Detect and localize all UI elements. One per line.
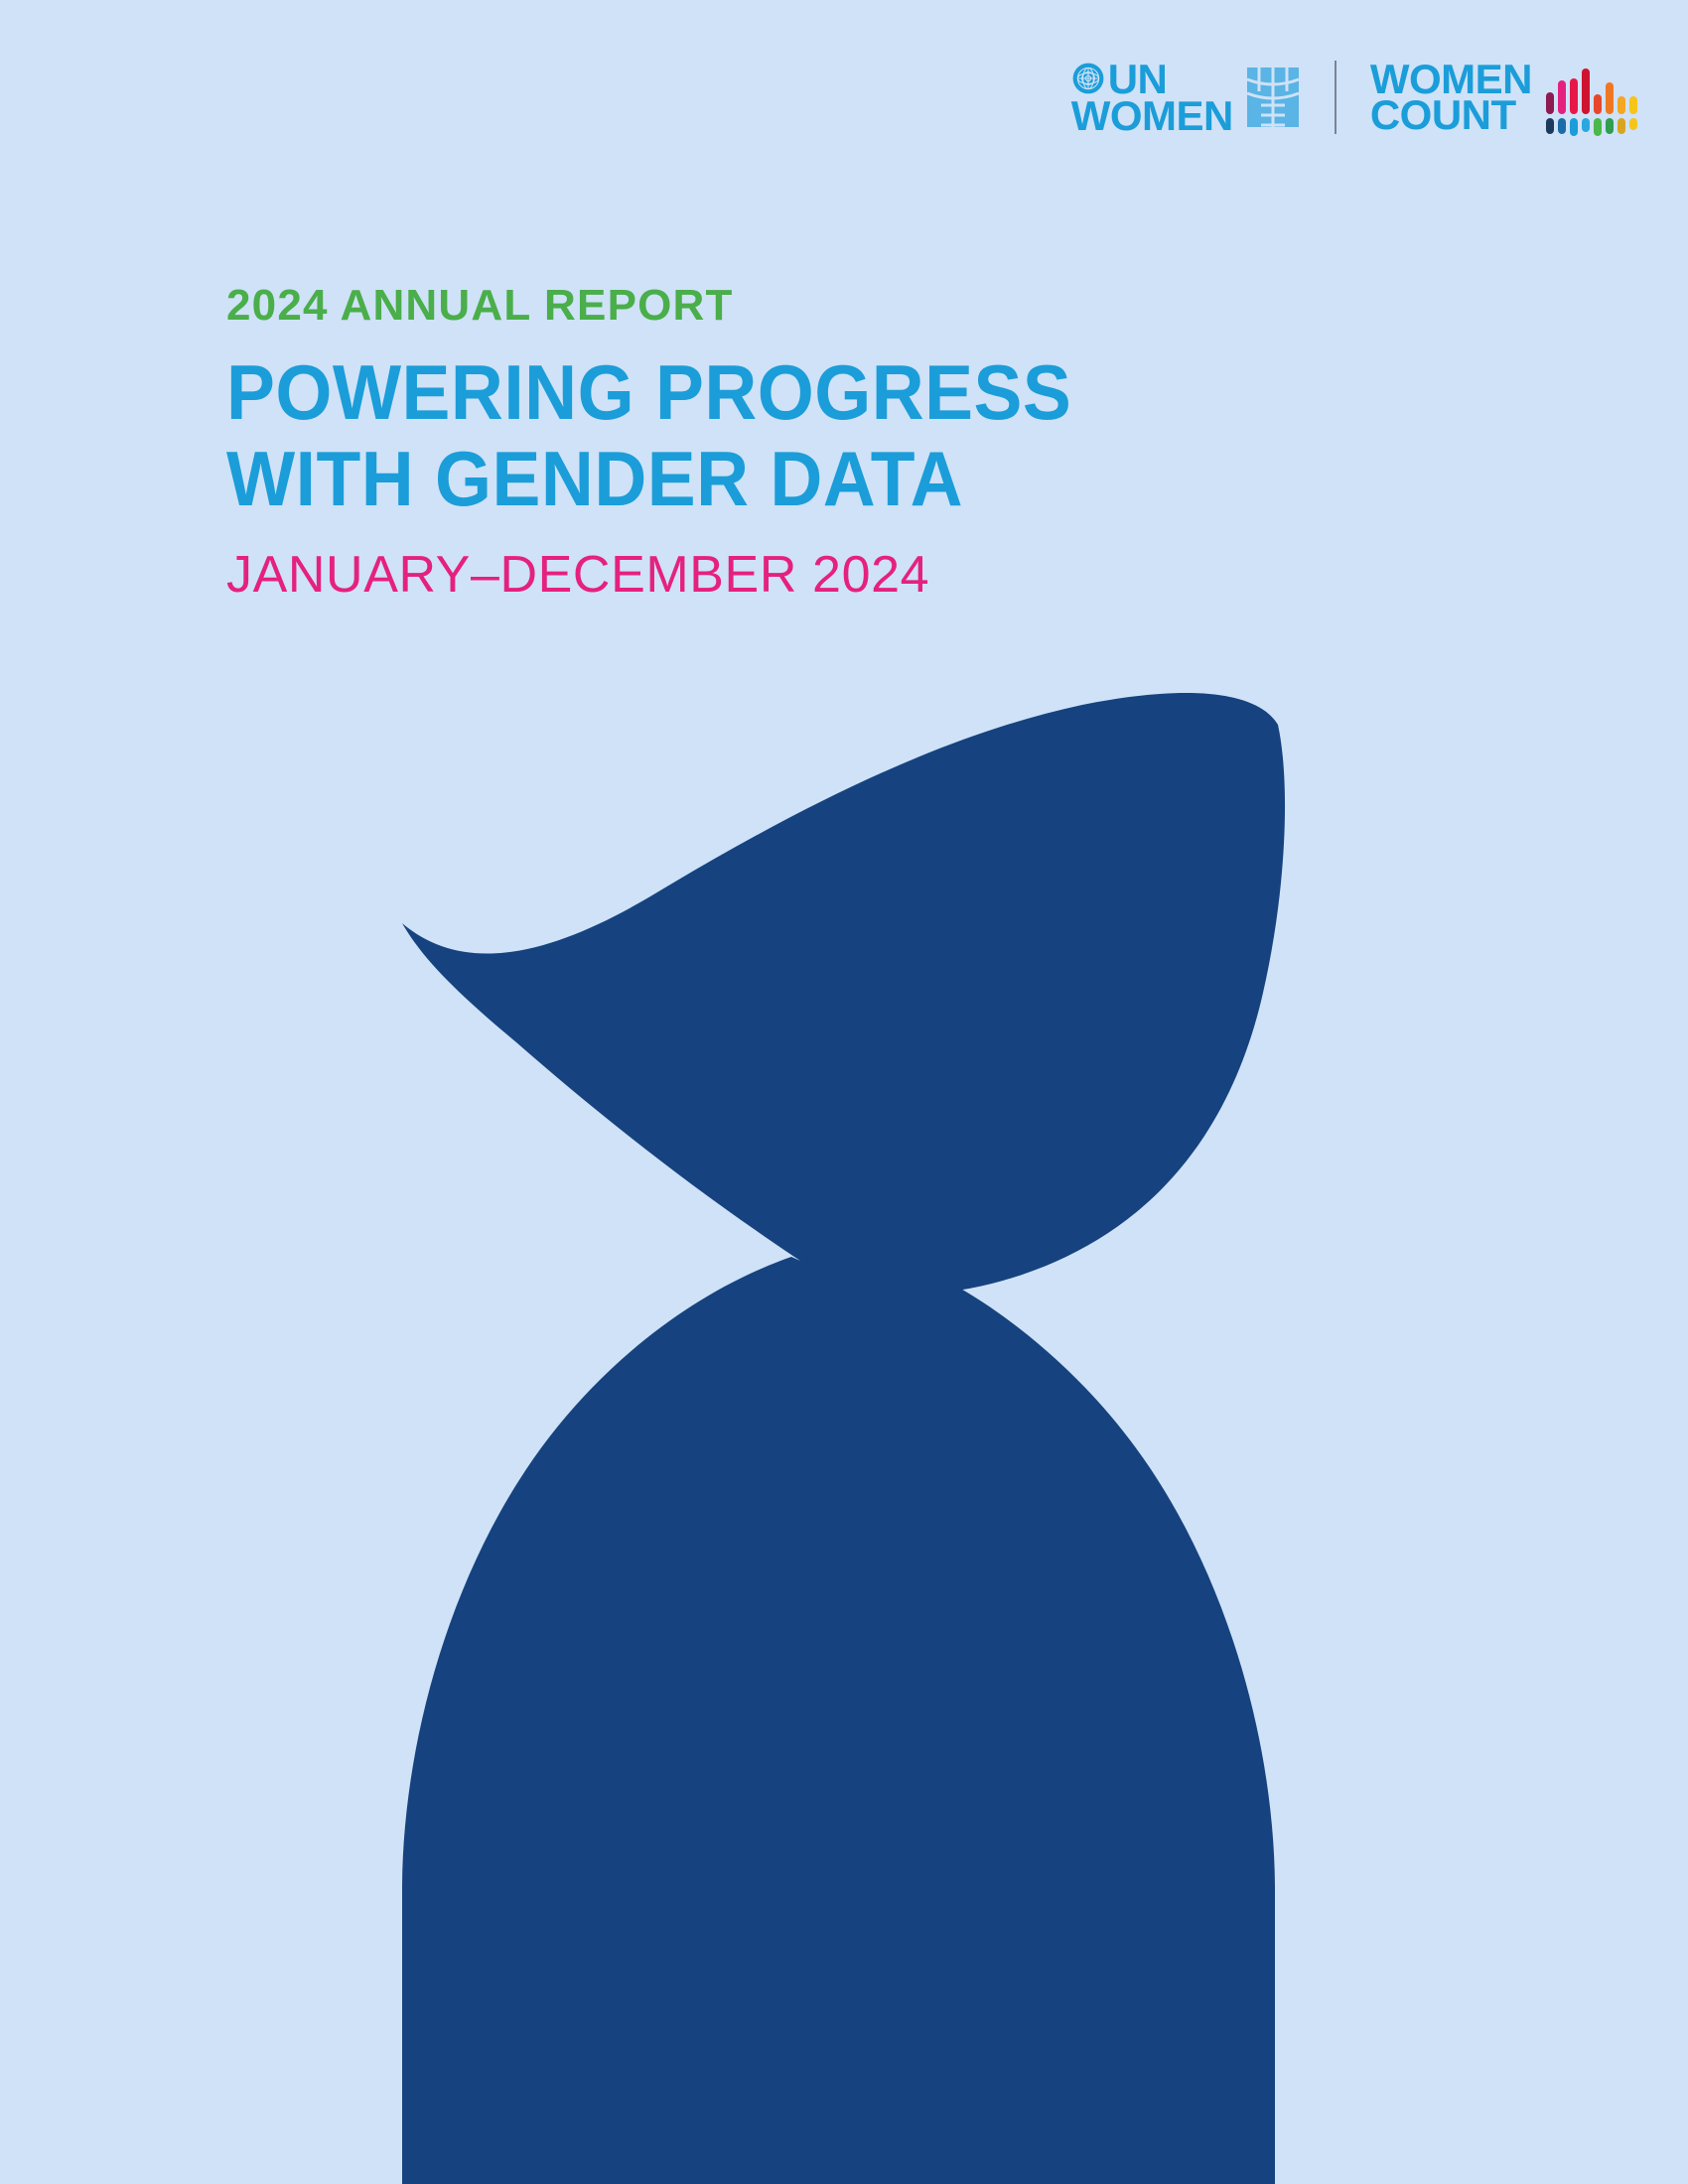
lockup-divider: [1335, 61, 1336, 134]
cover-page: UN WOMEN WOMEN: [0, 0, 1688, 2184]
report-eyebrow: 2024 ANNUAL REPORT: [226, 284, 1319, 328]
un-women-line-2: WOMEN: [1071, 98, 1233, 133]
page-title-line-2: WITH GENDER DATA: [226, 436, 1253, 522]
women-count-wordmark: WOMEN COUNT: [1370, 62, 1532, 133]
bar-chart-icon: [1544, 59, 1643, 136]
figure-body-shape: [402, 1257, 1275, 2184]
un-women-logo[interactable]: UN WOMEN: [1071, 62, 1301, 134]
figure-head-shape: [402, 693, 1285, 1294]
un-globe-grid-icon: [1245, 66, 1301, 129]
page-title-line-1: POWERING PROGRESS: [226, 349, 1253, 436]
report-date-range: JANUARY–DECEMBER 2024: [226, 549, 1319, 601]
un-globe-laurel-icon: [1071, 62, 1105, 95]
page-title: POWERING PROGRESS WITH GENDER DATA: [226, 349, 1319, 523]
un-women-wordmark: UN WOMEN: [1071, 62, 1233, 134]
logo-lockup: UN WOMEN WOMEN: [1071, 52, 1643, 143]
un-women-line-1: UN: [1108, 62, 1168, 96]
women-count-logo[interactable]: WOMEN COUNT: [1370, 59, 1643, 136]
women-count-line-2: COUNT: [1370, 97, 1516, 133]
title-block: 2024 ANNUAL REPORT POWERING PROGRESS WIT…: [226, 284, 1319, 601]
un-women-line-1-row: UN: [1071, 62, 1168, 96]
